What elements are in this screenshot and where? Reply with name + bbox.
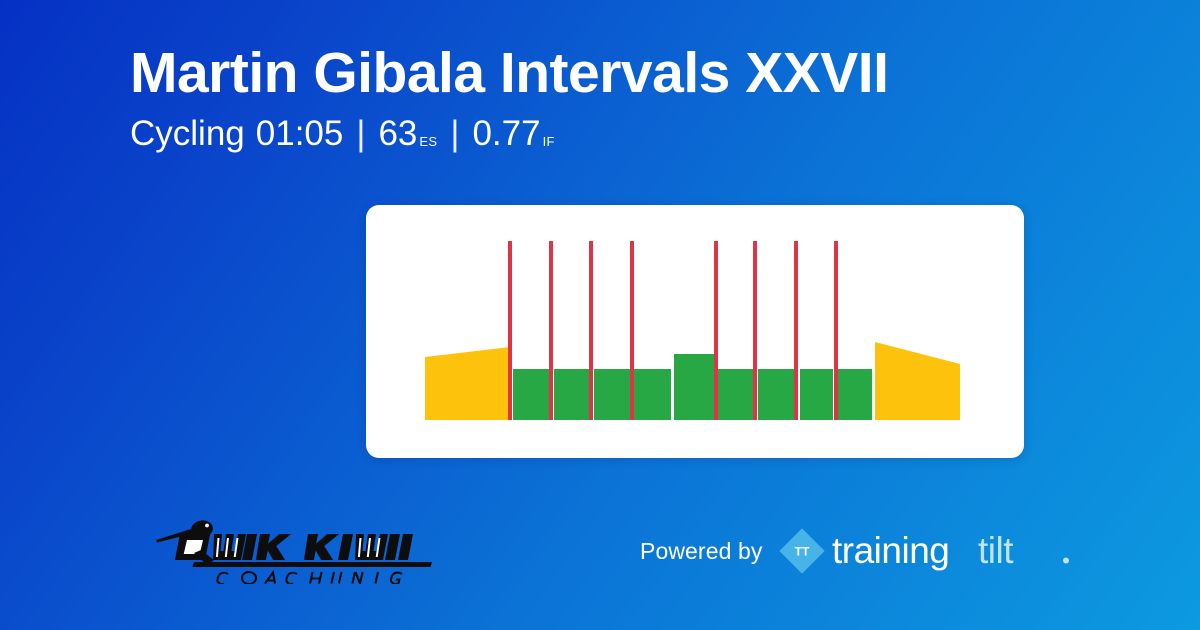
workout-chart-card xyxy=(366,205,1024,458)
chart-marker-5 xyxy=(714,241,718,420)
chart-block-interval-3 xyxy=(594,369,631,420)
effort-score: 63 ES xyxy=(378,114,437,154)
qwik-kiwi-coaching-logo xyxy=(150,512,472,584)
svg-text:TT: TT xyxy=(795,545,810,559)
svg-text:tilt: tilt xyxy=(978,530,1014,571)
chart-block-cooldown-ramp xyxy=(875,342,960,420)
effort-score-value: 63 xyxy=(378,114,417,154)
chart-blocks xyxy=(425,342,960,420)
chart-marker-8 xyxy=(834,241,838,420)
trainingtilt-logo: TT training tilt xyxy=(778,527,1074,575)
chart-block-interval-5-peak xyxy=(674,354,715,420)
intensity-factor-value: 0.77 xyxy=(472,114,540,154)
workout-summary-poster: Martin Gibala Intervals XXVII Cycling 01… xyxy=(0,0,1200,630)
intensity-factor-unit: IF xyxy=(543,135,555,150)
chart-block-warmup-ramp xyxy=(425,347,510,420)
chart-marker-4 xyxy=(630,241,634,420)
workout-profile-chart xyxy=(366,205,1024,458)
chart-block-interval-4 xyxy=(634,369,671,420)
duration-label: 01:05 xyxy=(256,114,344,154)
kiwi-bird-icon xyxy=(150,512,472,584)
workout-meta: Cycling 01:05 | 63 ES | 0.77 IF xyxy=(130,114,1090,154)
chart-marker-7 xyxy=(794,241,798,420)
svg-text:training: training xyxy=(832,530,949,571)
chart-marker-1 xyxy=(508,241,512,420)
effort-score-unit: ES xyxy=(419,135,437,150)
chart-block-interval-1 xyxy=(513,369,551,420)
powered-by-label: Powered by xyxy=(640,538,762,565)
chart-block-interval-6 xyxy=(718,369,755,420)
chart-marker-3 xyxy=(589,241,593,420)
duration-value: 01:05 xyxy=(256,114,344,154)
meta-separator-2: | xyxy=(437,114,472,154)
page-title: Martin Gibala Intervals XXVII xyxy=(130,42,1090,106)
intensity-factor: 0.77 IF xyxy=(472,114,554,154)
powered-by-block: Powered by TT training tilt xyxy=(640,525,1074,577)
trainingtilt-diamond-icon: TT xyxy=(780,528,825,573)
chart-marker-6 xyxy=(753,241,757,420)
chart-block-interval-8 xyxy=(800,369,833,420)
header: Martin Gibala Intervals XXVII Cycling 01… xyxy=(130,42,1090,154)
chart-block-interval-7 xyxy=(758,369,797,420)
meta-separator-1: | xyxy=(343,114,378,154)
sport-value: Cycling xyxy=(130,114,245,154)
sport-label: Cycling xyxy=(130,114,245,154)
chart-block-interval-2 xyxy=(554,369,591,420)
chart-marker-2 xyxy=(549,241,553,420)
chart-block-interval-9 xyxy=(836,369,872,420)
